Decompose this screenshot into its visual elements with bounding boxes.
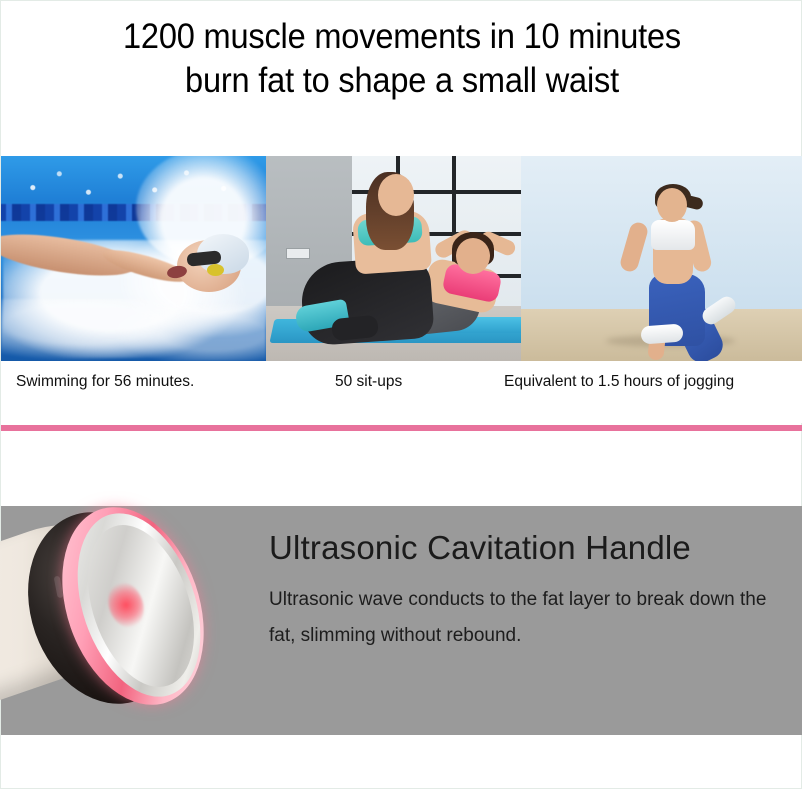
- photo-swimmer-freestyle-in-pool: [1, 156, 266, 361]
- water-foam-lower: [1, 299, 266, 361]
- product-copy: Ultrasonic Cavitation Handle Ultrasonic …: [269, 528, 789, 654]
- comparison-captions: Swimming for 56 minutes. 50 sit-ups Equi…: [1, 361, 802, 423]
- running-shoe: [640, 324, 683, 345]
- white-sports-bra: [651, 220, 695, 250]
- product-image-ultrasonic-cavitation-handle: [0, 498, 261, 744]
- comparison-photo-strip: [1, 156, 802, 361]
- product-section: Ultrasonic Cavitation Handle Ultrasonic …: [1, 506, 802, 735]
- swim-goggles-strap: [207, 264, 224, 276]
- jogger-head: [657, 188, 687, 222]
- section-divider: [1, 425, 802, 431]
- photo-woman-jogging-on-sand: [521, 156, 802, 361]
- caption-swimming: Swimming for 56 minutes.: [16, 371, 194, 393]
- photo-two-women-doing-sit-ups-in-gym: [266, 156, 521, 361]
- caption-jogging: Equivalent to 1.5 hours of jogging: [504, 371, 734, 393]
- page-title: 1200 muscle movements in 10 minutes burn…: [29, 15, 775, 103]
- woman-situp-head: [456, 238, 490, 274]
- product-description: Ultrasonic wave conducts to the fat laye…: [269, 582, 789, 654]
- product-title: Ultrasonic Cavitation Handle: [269, 528, 789, 568]
- woman-kneeling-head: [378, 174, 414, 216]
- product-infographic: 1200 muscle movements in 10 minutes burn…: [0, 0, 802, 789]
- caption-situps: 50 sit-ups: [335, 371, 402, 393]
